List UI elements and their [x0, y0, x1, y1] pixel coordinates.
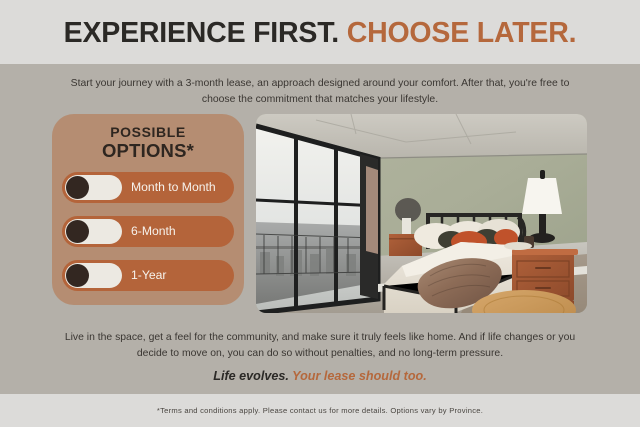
- toggle-knob-icon: [66, 176, 89, 199]
- tagline-accent-part: Your lease should too.: [292, 369, 427, 383]
- footer-disclaimer: *Terms and conditions apply. Please cont…: [157, 406, 483, 415]
- footer-band: *Terms and conditions apply. Please cont…: [0, 394, 640, 427]
- toggle-switch-1-year[interactable]: [65, 263, 122, 288]
- options-panel: POSSIBLE OPTIONS* Month to Month 6-Month: [52, 114, 244, 305]
- option-row-6-month[interactable]: 6-Month: [62, 216, 234, 247]
- header-band: EXPERIENCE FIRST. CHOOSE LATER.: [0, 0, 640, 64]
- body-paragraph: Live in the space, get a feel for the co…: [55, 330, 585, 362]
- toggle-switch-month-to-month[interactable]: [65, 175, 122, 200]
- option-row-month-to-month[interactable]: Month to Month: [62, 172, 234, 203]
- headline-accent-part: CHOOSE LATER.: [347, 17, 577, 49]
- option-label-1-year: 1-Year: [131, 268, 166, 282]
- intro-paragraph: Start your journey with a 3-month lease,…: [60, 76, 580, 108]
- promo-poster: EXPERIENCE FIRST. CHOOSE LATER. Start yo…: [0, 0, 640, 427]
- option-list: Month to Month 6-Month 1-Year: [52, 172, 244, 291]
- tagline: Life evolves. Your lease should too.: [0, 369, 640, 383]
- options-title-line-1: POSSIBLE: [52, 125, 244, 139]
- option-label-month-to-month: Month to Month: [131, 180, 216, 194]
- options-title-line-2: OPTIONS*: [52, 142, 244, 161]
- page-title: EXPERIENCE FIRST. CHOOSE LATER.: [64, 19, 577, 48]
- tagline-dark-part: Life evolves.: [213, 369, 289, 383]
- toggle-switch-6-month[interactable]: [65, 219, 122, 244]
- headline-dark-part: EXPERIENCE FIRST.: [64, 17, 339, 49]
- options-panel-title: POSSIBLE OPTIONS*: [52, 114, 244, 161]
- toggle-knob-icon: [66, 220, 89, 243]
- apartment-bedroom-photo: [256, 114, 587, 313]
- toggle-knob-icon: [66, 264, 89, 287]
- option-label-6-month: 6-Month: [131, 224, 176, 238]
- option-row-1-year[interactable]: 1-Year: [62, 260, 234, 291]
